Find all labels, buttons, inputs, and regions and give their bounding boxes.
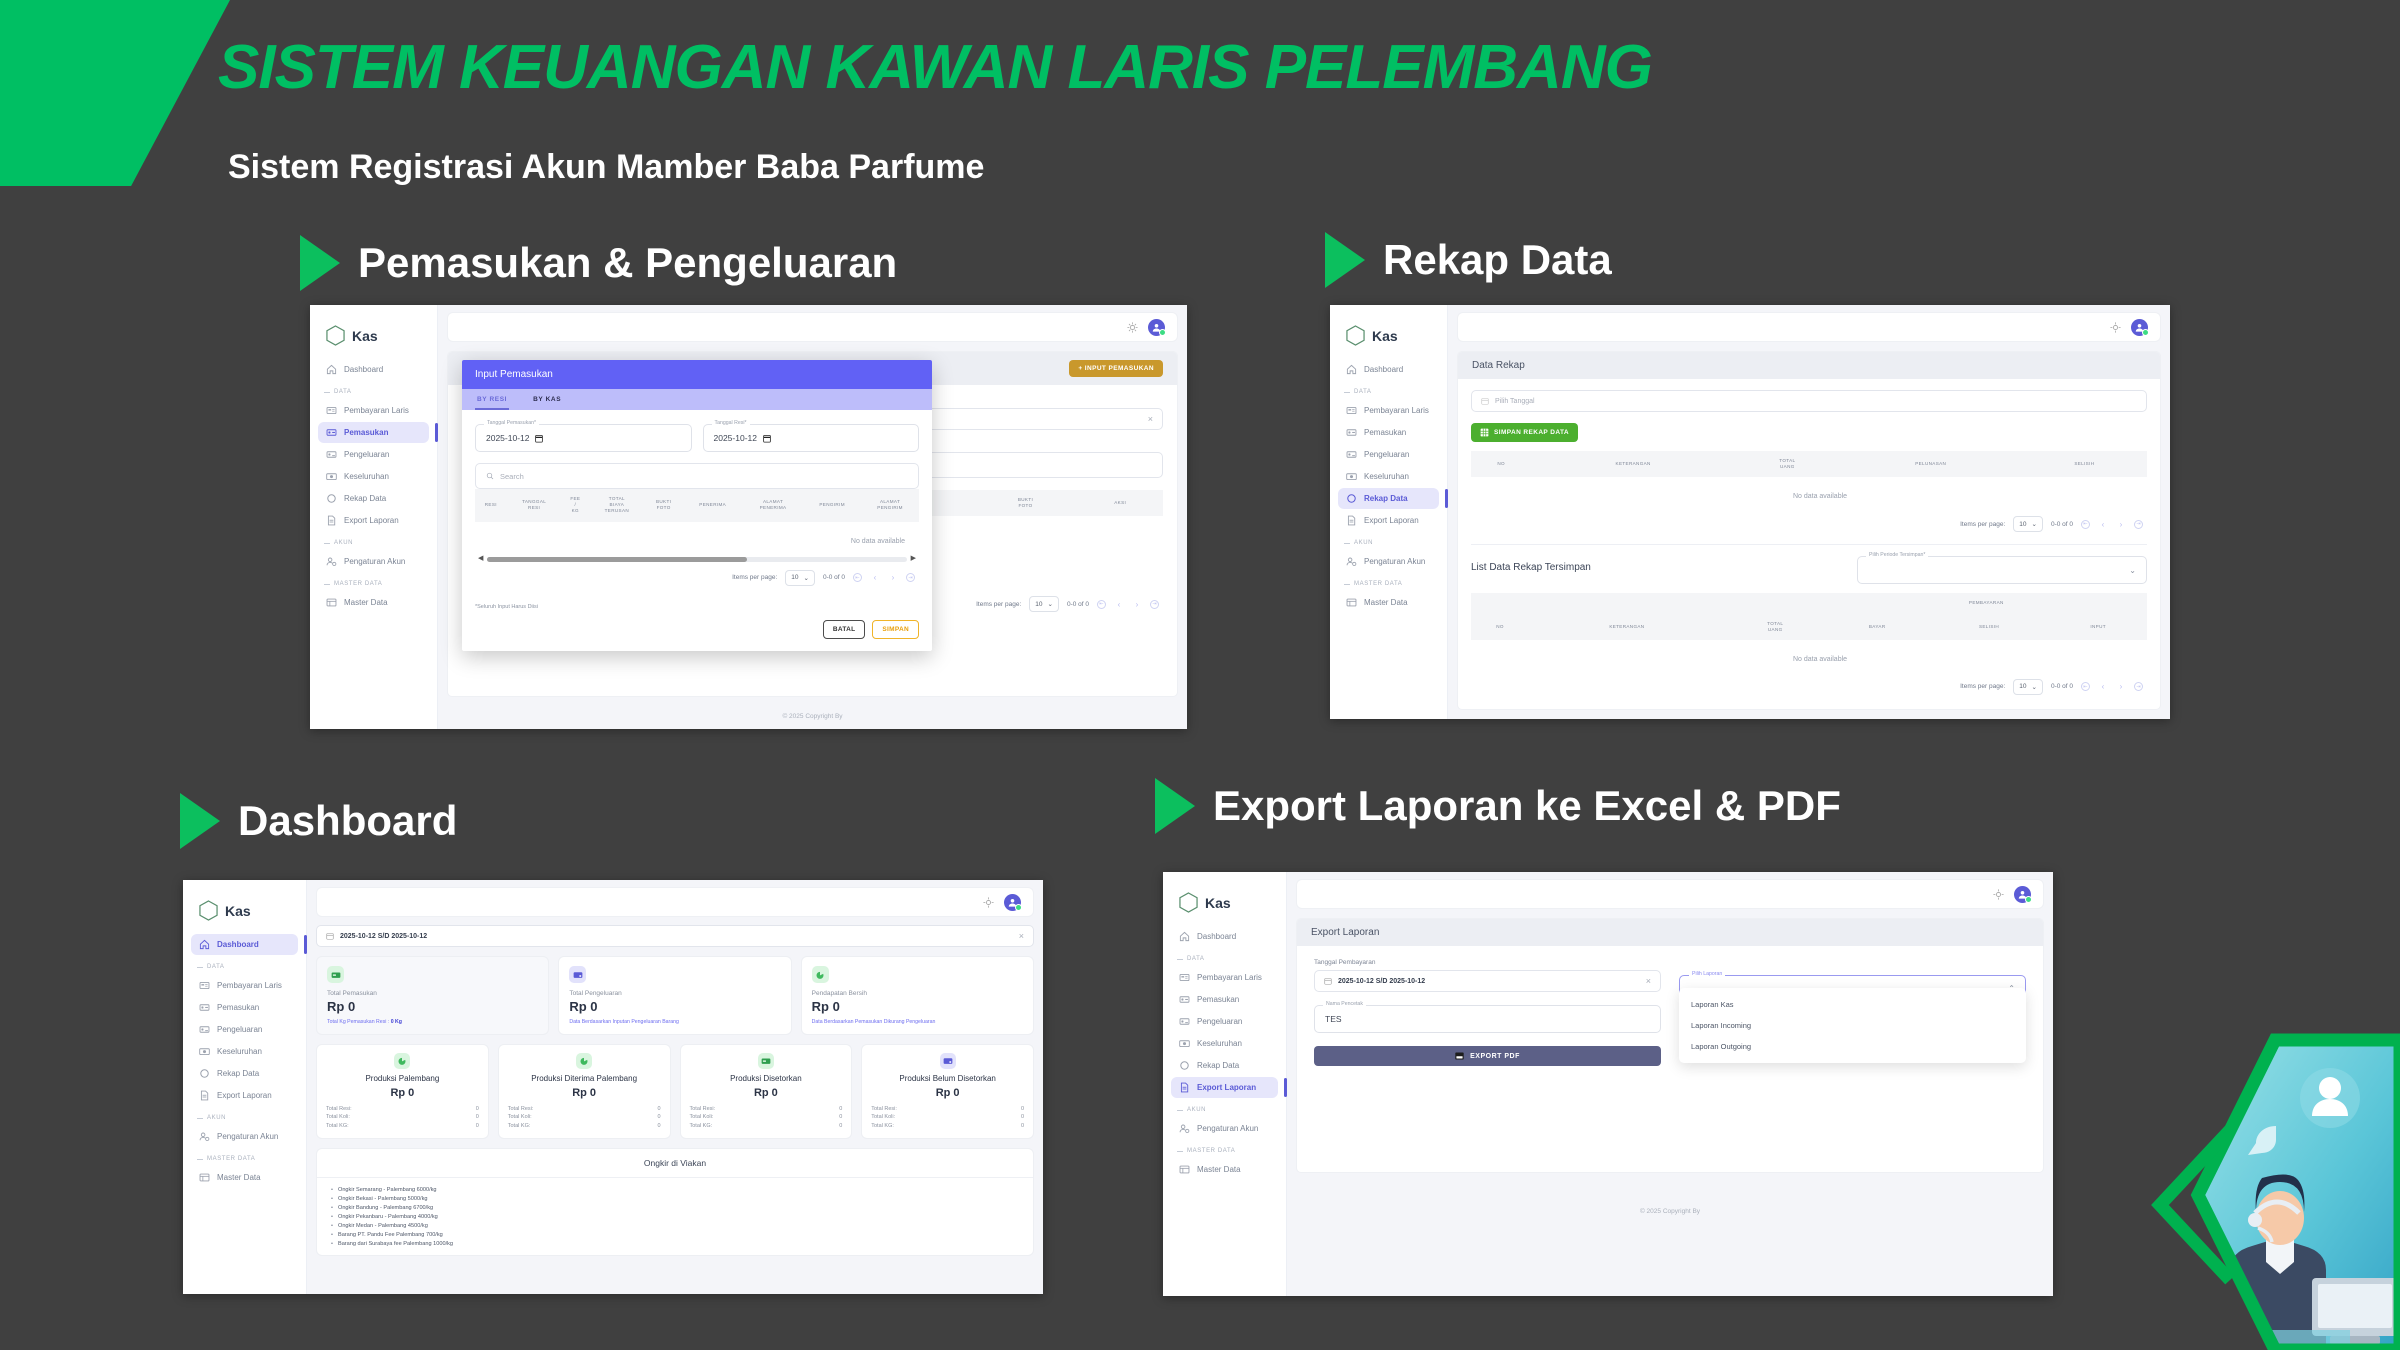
- production-title: Produksi Palembang: [326, 1074, 479, 1083]
- sidebar-item-label: Master Data: [1197, 1165, 1241, 1174]
- screenshot-pemasukan: Kas DashboardDATAPembayaran LarisPemasuk…: [310, 305, 1187, 729]
- tab-by-resi[interactable]: BY RESI: [475, 389, 509, 410]
- no-data-label: No data available: [475, 522, 919, 553]
- pie-icon: [576, 1053, 592, 1069]
- wallet-icon: [940, 1053, 956, 1069]
- sidebar-item-label: Dashboard: [1364, 365, 1403, 374]
- stat-note: Total Kg Pemasukan Resi : 0 Kg: [327, 1019, 538, 1025]
- sidebar-item-label: Dashboard: [344, 365, 383, 374]
- stat-label: Pendapatan Bersih: [812, 990, 1023, 997]
- production-title: Produksi Disetorkan: [690, 1074, 843, 1083]
- input-pemasukan-modal: Input Pemasukan BY RESI BY KAS Tanggal P…: [462, 360, 932, 651]
- export-pdf-button[interactable]: EXPORT PDF: [1314, 1046, 1661, 1066]
- nav-group-label: DATA: [1330, 381, 1447, 399]
- simpan-rekap-button[interactable]: SIMPAN REKAP DATA: [1471, 423, 1578, 442]
- production-card: Produksi PalembangRp 0Total Resi:0Total …: [316, 1044, 489, 1139]
- sidebar-item-pengaturan-akun[interactable]: Pengaturan Akun: [318, 551, 429, 572]
- list-rekap-title: List Data Rekap Tersimpan: [1471, 556, 1591, 573]
- column-header: KETERANGAN: [1531, 451, 1735, 477]
- sidebar-item-pengaturan-akun[interactable]: Pengaturan Akun: [1338, 551, 1439, 572]
- sidebar-item-pengeluaran[interactable]: Pengeluaran: [1171, 1011, 1278, 1032]
- stat-card: Pendapatan BersihRp 0Data Berdasarkan Pe…: [801, 956, 1034, 1035]
- clear-icon[interactable]: ×: [1019, 931, 1024, 941]
- topbar: [1457, 312, 2161, 342]
- sidebar-item-label: Pengaturan Akun: [1197, 1124, 1258, 1133]
- simpan-rekap-label: SIMPAN REKAP DATA: [1494, 429, 1569, 436]
- calendar-icon: [1481, 397, 1489, 405]
- tanggal-pembayaran-label: Tanggal Pembayaran: [1314, 959, 1661, 966]
- page-range: 0-0 of 0: [2051, 521, 2073, 528]
- tab-by-kas[interactable]: BY KAS: [531, 389, 563, 410]
- sidebar-item-label: Master Data: [344, 598, 388, 607]
- tanggal-pembayaran-value: 2025-10-12 S/D 2025-10-12: [1338, 978, 1425, 985]
- nav-list: DashboardDATAPembayaran LarisPemasukanPe…: [310, 359, 437, 613]
- production-lines: Total Resi:0Total Koli:0Total KG:0: [871, 1105, 1024, 1130]
- user-icon: [1151, 322, 1162, 333]
- sidebar-item-label: Keseluruhan: [344, 472, 389, 481]
- production-card: Produksi DisetorkanRp 0Total Resi:0Total…: [680, 1044, 853, 1139]
- sidebar-item-label: Pengaturan Akun: [344, 557, 405, 566]
- home-icon: [1179, 931, 1190, 942]
- sidebar-item-pengeluaran[interactable]: Pengeluaran: [1338, 444, 1439, 465]
- section-caption-label: Dashboard: [238, 797, 457, 845]
- sidebar: Kas DashboardDATAPembayaran LarisPemasuk…: [310, 305, 438, 729]
- list-item: Ongkir Medan - Palembang 4500/kg: [331, 1222, 1033, 1231]
- circle-icon: [1346, 493, 1357, 504]
- last-page-button[interactable]: ⇥: [2134, 682, 2143, 691]
- brand-name: Kas: [1372, 328, 1398, 344]
- user-icon: [2017, 889, 2028, 900]
- stat-cards-row: Total PemasukanRp 0Total Kg Pemasukan Re…: [316, 956, 1034, 1035]
- sidebar-item-dashboard[interactable]: Dashboard: [191, 934, 298, 955]
- prev-page-button[interactable]: ‹: [1114, 600, 1124, 609]
- nav-group-label: DATA: [310, 381, 437, 399]
- production-line: Total KG:0: [326, 1122, 479, 1130]
- export-pdf-label: EXPORT PDF: [1470, 1053, 1520, 1060]
- sidebar-item-label: Pemasukan: [344, 428, 388, 437]
- agent-illustration: [2190, 1030, 2400, 1350]
- main-area: Export Laporan Tanggal Pembayaran 2025-1…: [1287, 872, 2053, 1296]
- clear-icon[interactable]: ×: [1646, 976, 1651, 986]
- sidebar-item-dashboard[interactable]: Dashboard: [318, 359, 429, 380]
- production-lines: Total Resi:0Total Koli:0Total KG:0: [508, 1105, 661, 1130]
- periode-select[interactable]: Pilih Periode Tersimpan* ⌄: [1857, 556, 2147, 584]
- ongkir-title: Ongkir di Viakan: [317, 1149, 1033, 1178]
- sidebar-item-label: Export Laporan: [1364, 516, 1419, 525]
- sidebar-item-label: Master Data: [1364, 598, 1408, 607]
- pdf-icon: [1455, 1052, 1464, 1060]
- column-header: NO: [1471, 451, 1531, 477]
- dropdown-option[interactable]: Laporan Kas: [1679, 994, 2026, 1015]
- nav-list: DashboardDATAPembayaran LarisPemasukanPe…: [1330, 359, 1447, 613]
- avatar[interactable]: [2131, 319, 2148, 336]
- nav-list: DashboardDATAPembayaran LarisPemasukanPe…: [183, 934, 306, 1188]
- pilih-laporan-label: Pilih Laporan: [1689, 971, 1725, 977]
- column-header: SELISIH: [1929, 614, 2049, 640]
- main-area: Data Rekap Pilih Tanggal: [1448, 305, 2170, 719]
- scroll-left-icon[interactable]: ◀: [478, 554, 483, 562]
- scroll-right-icon[interactable]: ▶: [911, 554, 916, 562]
- nav-group-label: MASTER DATA: [1330, 573, 1447, 591]
- next-page-button[interactable]: ›: [1132, 600, 1142, 609]
- payment-icon: [1179, 972, 1190, 983]
- sidebar-item-master-data[interactable]: Master Data: [191, 1167, 298, 1188]
- avatar[interactable]: [2014, 886, 2031, 903]
- column-header: PELUNASAN: [1840, 451, 2022, 477]
- expense-icon: [1179, 1016, 1190, 1027]
- sidebar-item-label: Pembayaran Laris: [344, 406, 409, 415]
- home-icon: [199, 939, 210, 950]
- nama-pencetak-field[interactable]: Nama Pencetak TES: [1314, 1005, 1661, 1033]
- sidebar-item-label: Rekap Data: [217, 1069, 259, 1078]
- chevron-down-icon: ⌄: [804, 574, 809, 582]
- brand: Kas: [1330, 315, 1447, 358]
- section-caption-dashboard: Dashboard: [180, 793, 457, 849]
- table-icon: [199, 1172, 210, 1183]
- sidebar-item-label: Pemasukan: [1197, 995, 1239, 1004]
- topbar: [1296, 879, 2044, 909]
- list-item: Ongkir Pekanbaru - Palembang 4000/kg: [331, 1213, 1033, 1222]
- pie-icon: [394, 1053, 410, 1069]
- avatar[interactable]: [1148, 319, 1165, 336]
- column-header: NO: [1471, 614, 1529, 640]
- calendar-icon: [326, 932, 334, 940]
- sidebar-item-pembayaran-laris[interactable]: Pembayaran Laris: [318, 400, 429, 421]
- theme-toggle-icon[interactable]: [1993, 889, 2004, 900]
- sidebar-item-pengeluaran[interactable]: Pengeluaran: [191, 1019, 298, 1040]
- prev-page-button[interactable]: ‹: [2098, 520, 2108, 529]
- theme-toggle-icon[interactable]: [1127, 322, 1138, 333]
- table-header-row: NOKETERANGANTOTALUANGBAYARSELISIHINPUT: [1471, 614, 2147, 640]
- pagination-2: Items per page: 10 ⌄ 0-0 of 0 ⇤ ‹ › ⇥: [1471, 671, 2147, 703]
- date-picker-icon[interactable]: [763, 434, 771, 443]
- sidebar-item-export-laporan[interactable]: Export Laporan: [1171, 1077, 1278, 1098]
- dropdown-option[interactable]: Laporan Outgoing: [1679, 1036, 2026, 1057]
- periode-label: Pilih Periode Tersimpan*: [1866, 552, 1928, 558]
- tanggal-pemasukan-value: 2025-10-12: [486, 433, 529, 443]
- table-icon: [1346, 597, 1357, 608]
- cancel-button[interactable]: BATAL: [823, 620, 866, 639]
- rekap-card: Data Rekap Pilih Tanggal: [1457, 351, 2161, 710]
- sidebar-item-keseluruhan[interactable]: Keseluruhan: [1171, 1033, 1278, 1054]
- date-range-value: 2025-10-12 S/D 2025-10-12: [340, 933, 427, 940]
- pilih-tanggal-field[interactable]: Pilih Tanggal: [1471, 390, 2147, 412]
- modal-pagination: Items per page: 10 ⌄ 0-0 of 0 ⇤ ‹ › ⇥: [475, 562, 919, 594]
- circle-icon: [199, 1068, 210, 1079]
- screenshot-rekap: Kas DashboardDATAPembayaran LarisPemasuk…: [1330, 305, 2170, 719]
- sidebar-item-label: Dashboard: [1197, 932, 1236, 941]
- sidebar-item-label: Pengaturan Akun: [1364, 557, 1425, 566]
- payment-icon: [199, 980, 210, 991]
- topbar: [447, 312, 1178, 342]
- expense-icon: [326, 449, 337, 460]
- horizontal-scrollbar[interactable]: ◀ ▶: [487, 557, 907, 562]
- calendar-icon: [1324, 977, 1332, 985]
- sidebar: Kas DashboardDATAPembayaran LarisPemasuk…: [1163, 872, 1287, 1296]
- sidebar-item-dashboard[interactable]: Dashboard: [1171, 926, 1278, 947]
- nama-pencetak-label: Nama Pencetak: [1323, 1001, 1366, 1007]
- column-header: BUKTIFOTO: [974, 490, 1078, 516]
- sidebar-item-label: Pemasukan: [1364, 428, 1406, 437]
- screenshot-export: Kas DashboardDATAPembayaran LarisPemasuk…: [1163, 872, 2053, 1296]
- dashboard-body: 2025-10-12 S/D 2025-10-12 × Total Pemasu…: [307, 917, 1043, 1256]
- pie-icon: [812, 966, 829, 983]
- production-lines: Total Resi:0Total Koli:0Total KG:0: [326, 1105, 479, 1130]
- card-icon: [327, 966, 344, 983]
- production-line: Total Resi:0: [871, 1105, 1024, 1113]
- tanggal-pembayaran-field[interactable]: 2025-10-12 S/D 2025-10-12 ×: [1314, 970, 1661, 992]
- input-pemasukan-button[interactable]: + INPUT PEMASUKAN: [1069, 360, 1163, 377]
- sidebar-item-keseluruhan[interactable]: Keseluruhan: [191, 1041, 298, 1062]
- sidebar-item-pengaturan-akun[interactable]: Pengaturan Akun: [1171, 1118, 1278, 1139]
- chevron-down-icon: ⌄: [2129, 566, 2136, 575]
- page-size-value: 10: [791, 574, 798, 581]
- stat-card: Total PengeluaranRp 0Data Berdasarkan In…: [558, 956, 791, 1035]
- table-group-header-row: PEMBAYARAN: [1471, 593, 2147, 613]
- card-title: Export Laporan: [1311, 927, 1379, 938]
- column-header: RESI: [475, 489, 507, 522]
- sidebar-item-label: Keseluruhan: [1364, 472, 1409, 481]
- table-header-row: RESITANGGALRESIFEE/KGTOTALBIAYATERUSANBU…: [475, 489, 919, 522]
- sidebar-item-pemasukan[interactable]: Pemasukan: [1171, 989, 1278, 1010]
- sidebar-item-pembayaran-laris[interactable]: Pembayaran Laris: [1171, 967, 1278, 988]
- play-triangle-icon: [300, 235, 340, 291]
- column-header: SELISIH: [2022, 451, 2147, 477]
- tanggal-pemasukan-label: Tanggal Pemasukan*: [484, 420, 539, 426]
- nav-group-label: AKUN: [183, 1107, 306, 1125]
- page-size-value: 10: [2019, 521, 2026, 528]
- hexagon-logo-icon: [1179, 892, 1198, 913]
- nav-group-label: MASTER DATA: [310, 573, 437, 591]
- list-item: Barang dari Surabaya fee Palembang 1000/…: [331, 1240, 1033, 1249]
- tanggal-resi-value: 2025-10-12: [714, 433, 757, 443]
- sidebar-item-master-data[interactable]: Master Data: [318, 592, 429, 613]
- card-body: Tanggal Pembayaran 2025-10-12 S/D 2025-1…: [1297, 946, 2043, 1172]
- column-header: ALAMATPENERIMA: [743, 489, 803, 522]
- modal-body: Tanggal Pemasukan* 2025-10-12 Tanggal Re…: [462, 410, 932, 604]
- column-header: BAYAR: [1826, 614, 1929, 640]
- sidebar-item-pemasukan[interactable]: Pemasukan: [1338, 422, 1439, 443]
- sidebar-item-dashboard[interactable]: Dashboard: [1338, 359, 1439, 380]
- sidebar-item-label: Pengeluaran: [1197, 1017, 1242, 1026]
- first-page-button[interactable]: ⇤: [2081, 520, 2090, 529]
- theme-toggle-icon[interactable]: [983, 897, 994, 908]
- card-header: Data Rekap: [1458, 352, 2160, 379]
- page-size-select[interactable]: 10 ⌄: [785, 570, 815, 586]
- modal-title: Input Pemasukan: [462, 360, 932, 389]
- items-per-page-label: Items per page:: [1960, 683, 2005, 690]
- sidebar-item-label: Pengeluaran: [217, 1025, 262, 1034]
- search-icon: [486, 472, 494, 480]
- save-button[interactable]: SIMPAN: [872, 620, 919, 639]
- modal-search-placeholder: Search: [500, 472, 524, 481]
- prev-page-button[interactable]: ‹: [870, 573, 880, 582]
- section-caption-label: Export Laporan ke Excel & PDF: [1213, 782, 1841, 830]
- user-icon: [1007, 897, 1018, 908]
- sidebar-item-export-laporan[interactable]: Export Laporan: [318, 510, 429, 531]
- expense-icon: [199, 1024, 210, 1035]
- column-header: ALAMATPENGIRIM: [861, 489, 919, 522]
- column-header: PENERIMA: [683, 489, 743, 522]
- items-per-page-label: Items per page:: [976, 601, 1021, 608]
- file-icon: [326, 515, 337, 526]
- sidebar-item-pengeluaran[interactable]: Pengeluaran: [318, 444, 429, 465]
- nav-group-label: DATA: [183, 956, 306, 974]
- sidebar-item-rekap-data[interactable]: Rekap Data: [1171, 1055, 1278, 1076]
- money-icon: [199, 1046, 210, 1057]
- production-cards-row: Produksi PalembangRp 0Total Resi:0Total …: [316, 1044, 1034, 1139]
- page-size-value: 10: [1035, 601, 1042, 608]
- main-area: Data Pemasukan + INPUT PEMASUKAN Pilih T…: [438, 305, 1187, 729]
- date-picker-icon[interactable]: [535, 434, 543, 443]
- sidebar-item-pengaturan-akun[interactable]: Pengaturan Akun: [191, 1126, 298, 1147]
- sidebar-item-pemasukan[interactable]: Pemasukan: [191, 997, 298, 1018]
- sidebar-item-label: Export Laporan: [344, 516, 399, 525]
- production-value: Rp 0: [871, 1087, 1024, 1099]
- export-card: Export Laporan Tanggal Pembayaran 2025-1…: [1296, 918, 2044, 1173]
- sidebar-item-label: Pemasukan: [217, 1003, 259, 1012]
- sidebar-item-master-data[interactable]: Master Data: [1338, 592, 1439, 613]
- page-size-select[interactable]: 10 ⌄: [2013, 516, 2043, 532]
- sidebar-item-label: Pengeluaran: [1364, 450, 1409, 459]
- page-size-value: 10: [2019, 683, 2026, 690]
- modal-note: *Seluruh Input Harus Diisi: [462, 604, 932, 616]
- sidebar-item-rekap-data[interactable]: Rekap Data: [318, 488, 429, 509]
- production-lines: Total Resi:0Total Koli:0Total KG:0: [690, 1105, 843, 1130]
- production-title: Produksi Belum Disetorkan: [871, 1074, 1024, 1083]
- column-header: TOTALUANG: [1735, 451, 1840, 477]
- payment-icon: [326, 405, 337, 416]
- avatar[interactable]: [1004, 894, 1021, 911]
- production-line: Total Resi:0: [508, 1105, 661, 1113]
- sidebar-item-master-data[interactable]: Master Data: [1171, 1159, 1278, 1180]
- last-page-button[interactable]: ⇥: [906, 573, 915, 582]
- column-header: BUKTIFOTO: [645, 489, 683, 522]
- page-title: SISTEM KEUANGAN KAWAN LARIS PELEMBANG: [218, 32, 1652, 103]
- nav-list: DashboardDATAPembayaran LarisPemasukanPe…: [1163, 926, 1286, 1180]
- green-wedge-decoration: [0, 0, 230, 186]
- production-line: Total Resi:0: [326, 1105, 479, 1113]
- sidebar-item-label: Pembayaran Laris: [1364, 406, 1429, 415]
- money-icon: [1179, 1038, 1190, 1049]
- column-header: TOTALUANG: [1725, 614, 1826, 640]
- sidebar-item-rekap-data[interactable]: Rekap Data: [1338, 488, 1439, 509]
- table-icon: [1179, 1164, 1190, 1175]
- stat-value: Rp 0: [812, 999, 1023, 1014]
- prev-page-button[interactable]: ‹: [2098, 682, 2108, 691]
- production-card: Produksi Belum DisetorkanRp 0Total Resi:…: [861, 1044, 1034, 1139]
- next-page-button[interactable]: ›: [2116, 520, 2126, 529]
- user-settings-icon: [1346, 556, 1357, 567]
- sidebar-item-label: Rekap Data: [1364, 494, 1408, 503]
- stat-label: Total Pemasukan: [327, 990, 538, 997]
- sidebar-item-export-laporan[interactable]: Export Laporan: [1338, 510, 1439, 531]
- footer-copyright: © 2025 Copyright By: [1287, 1182, 2053, 1224]
- tanggal-resi-label: Tanggal Resi*: [712, 420, 750, 426]
- chevron-down-icon: ⌄: [1048, 600, 1053, 608]
- play-triangle-icon: [180, 793, 220, 849]
- sidebar-item-label: Rekap Data: [344, 494, 386, 503]
- section-caption-pemasukan: Pemasukan & Pengeluaran: [300, 235, 897, 291]
- sidebar-item-label: Export Laporan: [217, 1091, 272, 1100]
- production-line: Total KG:0: [508, 1122, 661, 1130]
- nav-group-label: MASTER DATA: [183, 1148, 306, 1166]
- income-icon: [199, 1002, 210, 1013]
- column-header: TOTALBIAYATERUSAN: [589, 489, 645, 522]
- next-page-button[interactable]: ›: [2116, 682, 2126, 691]
- file-icon: [1346, 515, 1357, 526]
- page-range: 0-0 of 0: [823, 574, 845, 581]
- sidebar-item-label: Export Laporan: [1197, 1083, 1256, 1092]
- chevron-down-icon: ⌄: [2032, 683, 2037, 691]
- ongkir-card: Ongkir di Viakan Ongkir Semarang - Palem…: [316, 1148, 1034, 1256]
- nav-group-label: DATA: [1163, 948, 1286, 966]
- last-page-button[interactable]: ⇥: [2134, 520, 2143, 529]
- sidebar-item-pembayaran-laris[interactable]: Pembayaran Laris: [191, 975, 298, 996]
- sidebar-item-label: Pembayaran Laris: [217, 981, 282, 990]
- hexagon-logo-icon: [199, 900, 218, 921]
- first-page-button[interactable]: ⇤: [1097, 600, 1106, 609]
- brand: Kas: [310, 315, 437, 358]
- brand-name: Kas: [352, 328, 378, 344]
- sidebar-item-rekap-data[interactable]: Rekap Data: [191, 1063, 298, 1084]
- sidebar-item-pemasukan[interactable]: Pemasukan: [318, 422, 429, 443]
- sidebar-item-keseluruhan[interactable]: Keseluruhan: [318, 466, 429, 487]
- date-range-field[interactable]: 2025-10-12 S/D 2025-10-12 ×: [316, 925, 1034, 947]
- theme-toggle-icon[interactable]: [2110, 322, 2121, 333]
- sidebar-item-label: Keseluruhan: [1197, 1039, 1242, 1048]
- main-area: 2025-10-12 S/D 2025-10-12 × Total Pemasu…: [307, 880, 1043, 1294]
- sidebar-item-keseluruhan[interactable]: Keseluruhan: [1338, 466, 1439, 487]
- production-value: Rp 0: [690, 1087, 843, 1099]
- tanggal-pemasukan-field[interactable]: Tanggal Pemasukan* 2025-10-12: [475, 424, 692, 452]
- sidebar-item-export-laporan[interactable]: Export Laporan: [191, 1085, 298, 1106]
- list-item: Ongkir Bandung - Palembang 6700/kg: [331, 1204, 1033, 1213]
- production-line: Total KG:0: [871, 1122, 1024, 1130]
- wallet-icon: [569, 966, 586, 983]
- modal-search-input[interactable]: Search: [475, 463, 919, 489]
- sidebar-item-label: Dashboard: [217, 940, 259, 949]
- first-page-button[interactable]: ⇤: [853, 573, 862, 582]
- production-line: Total KG:0: [690, 1122, 843, 1130]
- pilih-laporan-dropdown: Laporan KasLaporan IncomingLaporan Outgo…: [1679, 988, 2026, 1063]
- rekap-tersimpan-table: PEMBAYARAN NOKETERANGANTOTALUANGBAYARSEL…: [1471, 593, 2147, 640]
- home-icon: [1346, 364, 1357, 375]
- section-caption-export: Export Laporan ke Excel & PDF: [1155, 778, 1841, 834]
- sidebar-item-pembayaran-laris[interactable]: Pembayaran Laris: [1338, 400, 1439, 421]
- sidebar-item-label: Keseluruhan: [217, 1047, 262, 1056]
- nav-group-label: AKUN: [1163, 1099, 1286, 1117]
- income-icon: [1179, 994, 1190, 1005]
- file-icon: [1179, 1082, 1190, 1093]
- page-size-select[interactable]: 10 ⌄: [2013, 679, 2043, 695]
- tanggal-resi-field[interactable]: Tanggal Resi* 2025-10-12: [703, 424, 920, 452]
- next-page-button[interactable]: ›: [888, 573, 898, 582]
- home-icon: [326, 364, 337, 375]
- page-size-select[interactable]: 10 ⌄: [1029, 596, 1059, 612]
- last-page-button[interactable]: ⇥: [1150, 600, 1159, 609]
- sidebar: Kas DashboardDATAPembayaran LarisPemasuk…: [183, 880, 307, 1294]
- clear-icon[interactable]: ×: [1148, 414, 1153, 424]
- first-page-button[interactable]: ⇤: [2081, 682, 2090, 691]
- hexagon-logo-icon: [326, 325, 345, 346]
- dropdown-option[interactable]: Laporan Incoming: [1679, 1015, 2026, 1036]
- section-caption-rekap: Rekap Data: [1325, 232, 1612, 288]
- income-icon: [326, 427, 337, 438]
- production-value: Rp 0: [326, 1087, 479, 1099]
- items-per-page-label: Items per page:: [1960, 521, 2005, 528]
- table-header-row: NOKETERANGANTOTALUANGPELUNASANSELISIH: [1471, 451, 2147, 477]
